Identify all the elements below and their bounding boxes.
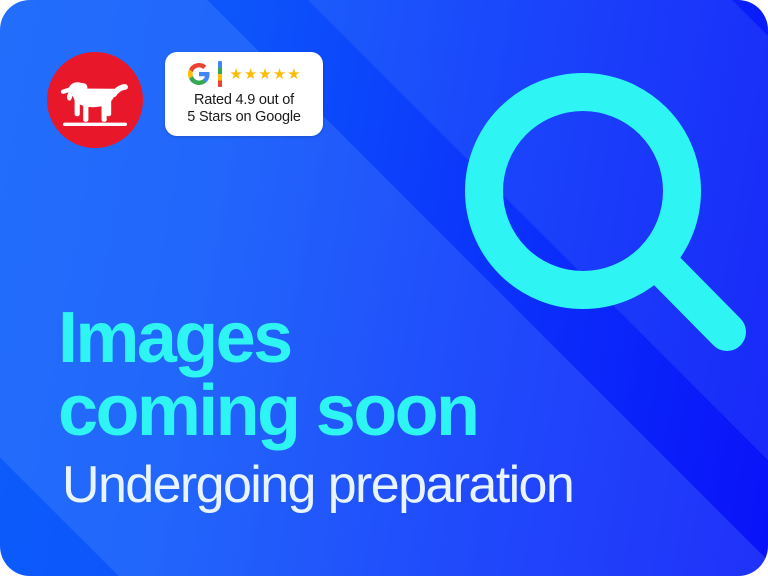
headline-line-1: Images bbox=[58, 303, 718, 374]
subheadline: Undergoing preparation bbox=[62, 459, 718, 511]
headline-block: Images coming soon Undergoing preparatio… bbox=[58, 303, 718, 511]
google-color-divider bbox=[218, 61, 222, 87]
google-review-badge: ★ ★ ★ ★ ★ Rated 4.9 out of 5 Stars on Go… bbox=[165, 52, 323, 136]
google-g-icon bbox=[187, 62, 211, 86]
badge-rating-text-line-2: 5 Stars on Google bbox=[187, 109, 300, 126]
star-icon: ★ bbox=[244, 67, 257, 82]
top-badges-row: ★ ★ ★ ★ ★ Rated 4.9 out of 5 Stars on Go… bbox=[47, 52, 323, 148]
headline-line-2: coming soon bbox=[58, 376, 718, 447]
star-icon: ★ bbox=[258, 67, 271, 82]
star-icon: ★ bbox=[229, 67, 242, 82]
badge-rating-row: ★ ★ ★ ★ ★ bbox=[187, 61, 300, 87]
star-icon: ★ bbox=[273, 67, 286, 82]
dog-silhouette-icon bbox=[47, 52, 143, 148]
badge-rating-text-line-1: Rated 4.9 out of bbox=[187, 92, 300, 109]
star-icon: ★ bbox=[287, 67, 300, 82]
badge-rating-text: Rated 4.9 out of 5 Stars on Google bbox=[187, 92, 300, 126]
star-rating: ★ ★ ★ ★ ★ bbox=[229, 67, 300, 82]
image-placeholder-card: ★ ★ ★ ★ ★ Rated 4.9 out of 5 Stars on Go… bbox=[0, 0, 768, 576]
